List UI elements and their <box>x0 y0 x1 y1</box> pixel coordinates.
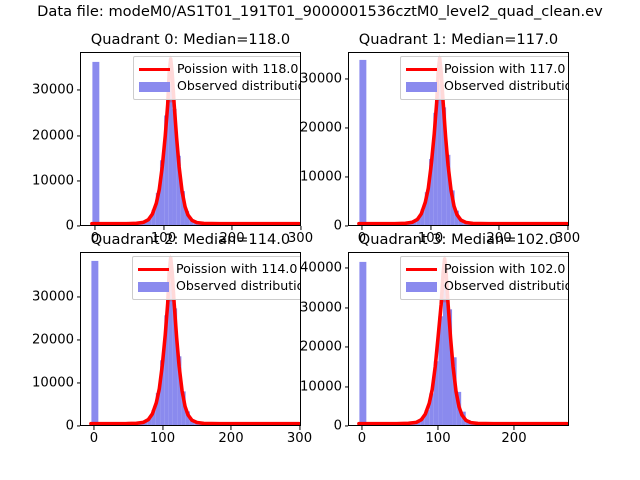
xtick-mark <box>93 426 94 430</box>
ytick-mark <box>77 382 81 383</box>
subplot-title-quadrant-1: Quadrant 1: Median=117.0 <box>308 31 609 48</box>
xtick-mark <box>361 226 362 230</box>
ytick-mark <box>345 176 349 177</box>
line-swatch-icon <box>406 262 437 277</box>
subplot-quadrant-3: Quadrant 3: Median=102.0 <box>348 252 569 426</box>
xtick-label: 0 <box>358 431 366 446</box>
xtick-label: 200 <box>218 431 243 446</box>
legend-row-poisson: Poission with 118.0 <box>139 61 301 78</box>
patch-swatch-icon <box>139 79 170 94</box>
legend-label-observed: Observed distribution <box>176 280 301 293</box>
subplot-quadrant-1: Quadrant 1: Median=117.0 <box>348 52 569 226</box>
legend-label-poisson: Poission with 114.0 <box>176 263 297 276</box>
legend-label-observed: Observed distribution <box>444 280 569 293</box>
subplot-quadrant-2: Quadrant 2: Median=114.0 <box>80 252 301 426</box>
ytick-label: 30000 <box>32 290 74 305</box>
xtick-label: 300 <box>287 431 312 446</box>
subplot-title-quadrant-0: Quadrant 0: Median=118.0 <box>40 31 341 48</box>
legend-quadrant-1: Poission with 117.0 Observed distributio… <box>400 56 569 100</box>
legend-quadrant-3: Poission with 102.0 Observed distributio… <box>400 256 569 300</box>
legend-quadrant-0: Poission with 118.0 Observed distributio… <box>133 56 301 100</box>
ytick-mark <box>345 127 349 128</box>
axes-quadrant-3: Poission with 102.0 Observed distributio… <box>348 252 569 426</box>
line-swatch-icon <box>406 62 437 77</box>
ytick-mark <box>77 180 81 181</box>
ytick-mark <box>77 225 81 226</box>
xtick-mark <box>437 426 438 430</box>
subplot-title-quadrant-2: Quadrant 2: Median=114.0 <box>40 231 341 248</box>
xtick-mark <box>513 426 514 430</box>
legend-label-observed: Observed distribution <box>444 80 569 93</box>
patch-swatch-icon <box>406 279 437 294</box>
legend-row-observed: Observed distribution <box>406 278 569 295</box>
figure-suptitle: Data file: modeM0/AS1T01_191T01_90000015… <box>0 3 640 20</box>
xtick-label: 0 <box>90 431 98 446</box>
ytick-label: 20000 <box>300 121 342 136</box>
xtick-mark <box>430 226 431 230</box>
ytick-label: 20000 <box>32 128 74 143</box>
line-swatch-icon <box>138 262 169 277</box>
axes-quadrant-1: Poission with 117.0 Observed distributio… <box>348 52 569 226</box>
legend-quadrant-2: Poission with 114.0 Observed distributio… <box>132 256 301 300</box>
ytick-label: 10000 <box>32 376 74 391</box>
xtick-mark <box>231 226 232 230</box>
ytick-mark <box>345 307 349 308</box>
ytick-label: 30000 <box>32 83 74 98</box>
ytick-label: 30000 <box>300 300 342 315</box>
ytick-mark <box>345 425 349 426</box>
xtick-mark <box>299 426 300 430</box>
legend-label-poisson: Poission with 118.0 <box>177 63 298 76</box>
xtick-mark <box>361 426 362 430</box>
subplot-title-quadrant-3: Quadrant 3: Median=102.0 <box>308 231 609 248</box>
xtick-mark <box>498 226 499 230</box>
xtick-mark <box>94 226 95 230</box>
ytick-mark <box>345 386 349 387</box>
legend-row-observed: Observed distribution <box>138 278 301 295</box>
ytick-mark <box>77 296 81 297</box>
ytick-mark <box>77 90 81 91</box>
ytick-label: 10000 <box>32 173 74 188</box>
legend-row-poisson: Poission with 114.0 <box>138 261 301 278</box>
line-swatch-icon <box>139 62 170 77</box>
ytick-label: 20000 <box>32 333 74 348</box>
legend-row-poisson: Poission with 117.0 <box>406 61 569 78</box>
ytick-label: 10000 <box>300 170 342 185</box>
xtick-label: 100 <box>150 431 175 446</box>
xtick-mark <box>300 226 301 230</box>
subplot-quadrant-0: Quadrant 0: Median=118.0 <box>80 52 301 226</box>
legend-label-poisson: Poission with 102.0 <box>444 263 565 276</box>
legend-label-observed: Observed distribution <box>177 80 301 93</box>
xtick-label: 100 <box>425 431 450 446</box>
ytick-mark <box>77 339 81 340</box>
ytick-mark <box>345 267 349 268</box>
ytick-label: 40000 <box>300 261 342 276</box>
legend-label-poisson: Poission with 117.0 <box>444 63 565 76</box>
ytick-mark <box>345 225 349 226</box>
ytick-label: 10000 <box>300 379 342 394</box>
ytick-label: 0 <box>334 419 342 434</box>
xtick-mark <box>230 426 231 430</box>
xtick-mark <box>163 226 164 230</box>
axes-quadrant-0: Poission with 118.0 Observed distributio… <box>80 52 301 226</box>
axes-quadrant-2: Poission with 114.0 Observed distributio… <box>80 252 301 426</box>
ytick-mark <box>77 425 81 426</box>
xtick-label: 200 <box>501 431 526 446</box>
legend-row-observed: Observed distribution <box>406 78 569 95</box>
xtick-mark <box>567 226 568 230</box>
patch-swatch-icon <box>138 279 169 294</box>
ytick-mark <box>345 78 349 79</box>
matplotlib-figure: Data file: modeM0/AS1T01_191T01_90000015… <box>0 0 640 480</box>
xtick-mark <box>162 426 163 430</box>
ytick-label: 0 <box>66 419 74 434</box>
ytick-label: 20000 <box>300 340 342 355</box>
legend-row-observed: Observed distribution <box>139 78 301 95</box>
ytick-mark <box>345 346 349 347</box>
legend-row-poisson: Poission with 102.0 <box>406 261 569 278</box>
ytick-mark <box>77 135 81 136</box>
patch-swatch-icon <box>406 79 437 94</box>
ytick-label: 30000 <box>300 72 342 87</box>
